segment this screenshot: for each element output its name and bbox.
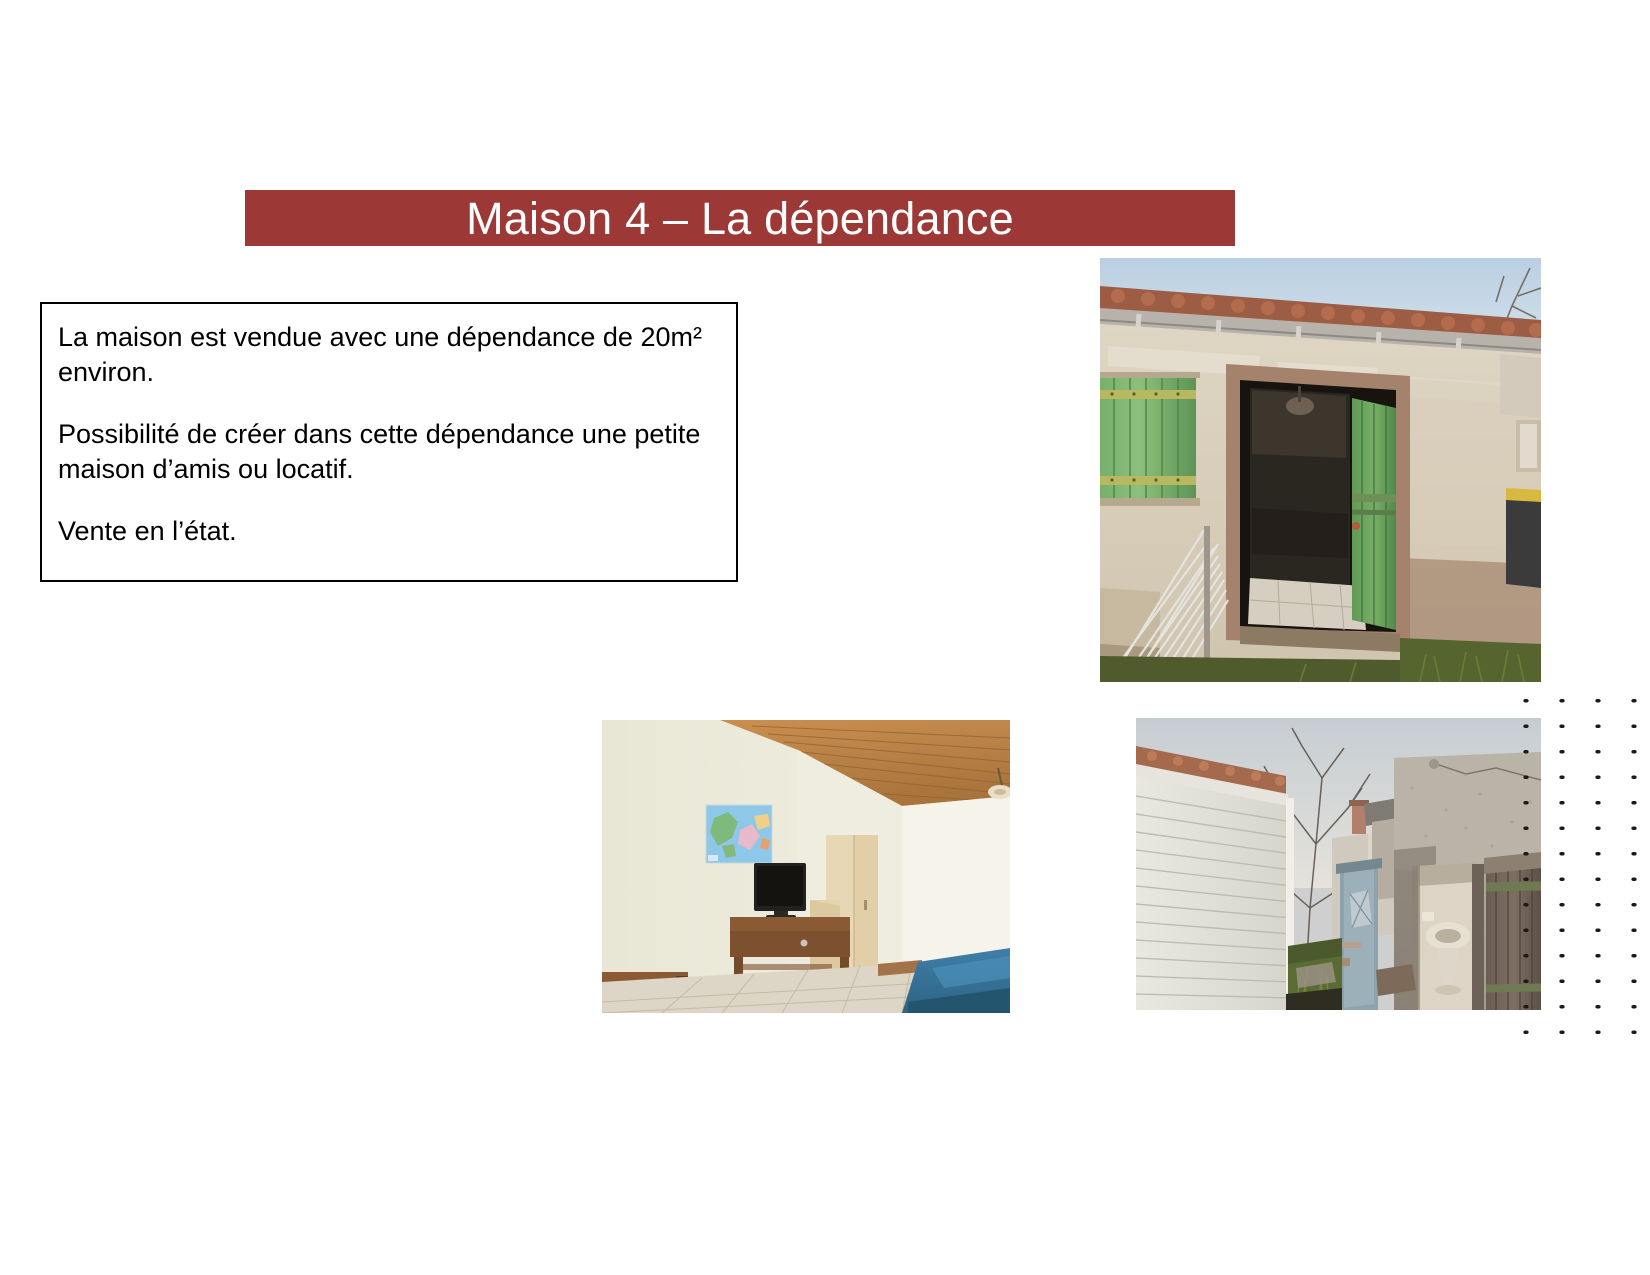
dot-grid-decoration bbox=[1502, 682, 1650, 1034]
photo-outdoor-toilet-image bbox=[1136, 718, 1541, 1010]
slide-title-banner: Maison 4 – La dépendance bbox=[245, 190, 1235, 246]
photo-exterior-door bbox=[1100, 258, 1541, 682]
description-paragraph-2: Possibilité de créer dans cette dépendan… bbox=[58, 417, 718, 487]
photo-bedroom-image bbox=[602, 720, 1010, 1013]
description-paragraph-3: Vente en l’état. bbox=[58, 514, 718, 549]
page-title: Maison 4 – La dépendance bbox=[466, 196, 1014, 241]
photo-bedroom bbox=[602, 720, 1010, 1013]
photo-outdoor-toilet bbox=[1136, 718, 1541, 1010]
photo-exterior-door-image bbox=[1100, 258, 1541, 682]
description-paragraph-1: La maison est vendue avec une dépendance… bbox=[58, 320, 718, 390]
description-text-box: La maison est vendue avec une dépendance… bbox=[40, 302, 738, 582]
slide-canvas: Maison 4 – La dépendance La maison est v… bbox=[0, 0, 1650, 1275]
